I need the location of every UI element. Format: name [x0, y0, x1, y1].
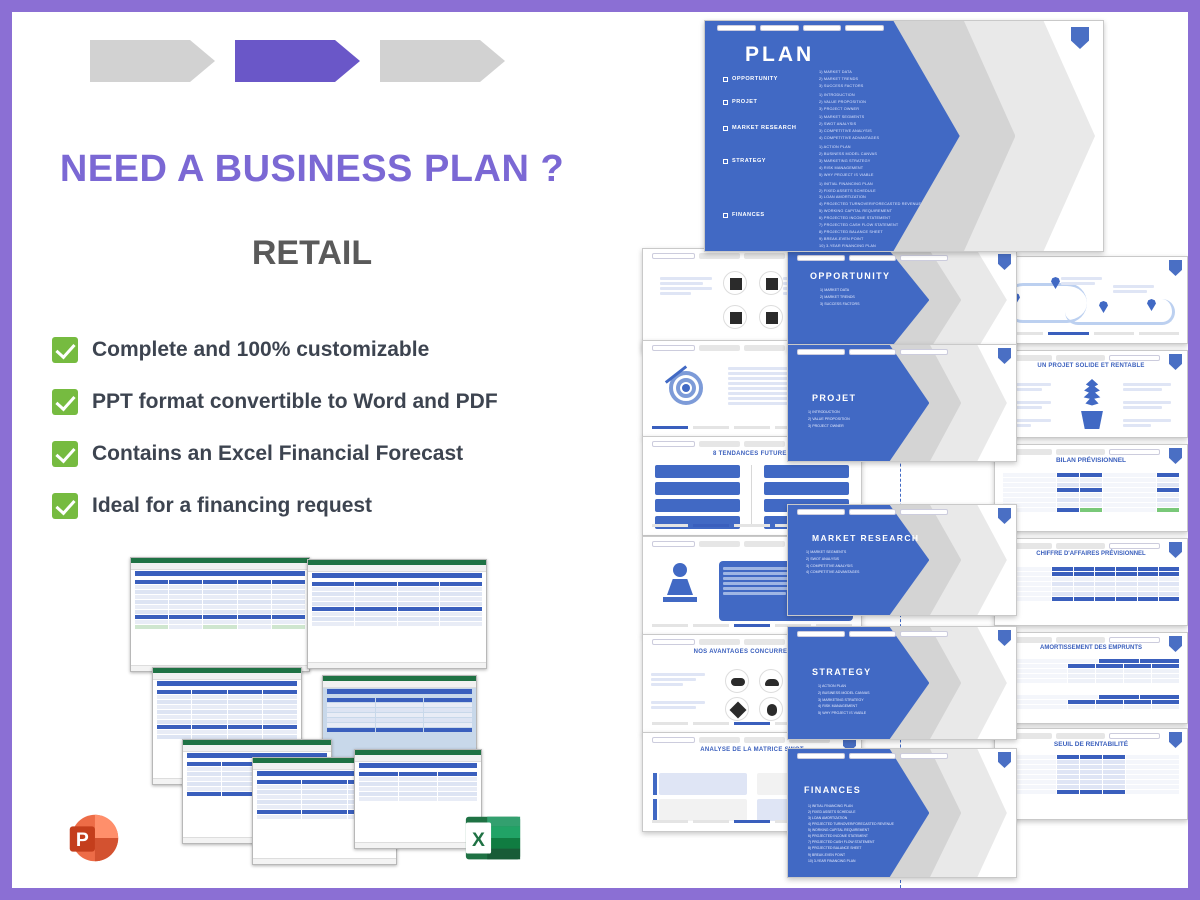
slide-item-list: 1) ACTION PLAN 2) BUSINESS MODEL CANVAS … — [818, 683, 870, 717]
plan-section-label: FINANCES — [723, 212, 819, 218]
checkbox-icon — [723, 213, 728, 218]
table-row — [1003, 572, 1180, 576]
table-row — [1003, 478, 1180, 482]
table-row — [133, 585, 307, 589]
table-row — [133, 615, 307, 619]
table-row — [1003, 780, 1180, 784]
list-item: 3) COMPETITIVE ANALYSIS — [806, 563, 859, 570]
list-item: 2) BUSINESS MODEL CANVAS — [819, 151, 877, 158]
slide-section-opportunity[interactable]: OPPORTUNITY 1) MARKET DATA 2) MARKET TRE… — [787, 250, 1017, 350]
table-row — [325, 718, 474, 722]
left-column: NEED A BUSINESS PLAN ? RETAIL Complete a… — [12, 12, 632, 888]
table-row — [1003, 473, 1180, 477]
cloud-icon — [759, 669, 783, 693]
plan-section-items: 1) INITIAL FINANCING PLAN 2) FIXED ASSET… — [819, 181, 921, 250]
table-row — [1003, 695, 1180, 699]
table-row — [325, 698, 474, 702]
list-item: 8) PROJECTED BALANCE SHEET — [819, 229, 921, 236]
data-table — [1003, 755, 1180, 795]
plan-section-market-research[interactable]: MARKET RESEARCH 1) MARKET SEGMENTS 2) SW… — [723, 114, 983, 142]
slide-thumb-projet-solide[interactable]: UN PROJET SOLIDE ET RENTABLE — [994, 350, 1188, 438]
page-subtitle: RETAIL — [12, 234, 612, 273]
slide-subtitle — [1010, 560, 1171, 565]
table-row — [310, 582, 484, 586]
sheet-title-bar — [312, 573, 482, 578]
table-row — [310, 607, 484, 611]
slide-topnav — [1003, 637, 1160, 643]
plan-sections: OPPORTUNITY 1) MARKET DATA 2) MARKET TRE… — [723, 69, 983, 252]
step-body — [90, 40, 190, 82]
checkbox-icon — [723, 159, 728, 164]
list-item: 2) VALUE PROPOSITION — [819, 99, 866, 106]
plan-section-finances[interactable]: FINANCES 1) INITIAL FINANCING PLAN 2) FI… — [723, 181, 983, 250]
list-item: 3) MARKETING STRATEGY — [819, 158, 877, 165]
check-icon — [52, 493, 78, 519]
page-title: NEED A BUSINESS PLAN ? — [12, 148, 612, 191]
list-item: 3) SUCCESS FACTORS — [820, 301, 859, 308]
table-row — [325, 723, 474, 727]
list-item: 2) SWOT ANALYSIS — [806, 556, 859, 563]
tag-icon — [725, 697, 749, 721]
plan-section-items: 1) MARKET DATA 2) MARKET TRENDS 3) SUCCE… — [819, 69, 863, 90]
list-item: 1) INITIAL FINANCING PLAN — [819, 181, 921, 188]
powerpoint-icon: P — [62, 807, 124, 869]
binoculars-icon — [725, 669, 749, 693]
plant-pot-icon — [1079, 411, 1105, 429]
slide-thumb-amortissement[interactable]: AMORTISSEMENT DES EMPRUNTS — [994, 632, 1188, 724]
table-row — [155, 705, 299, 709]
table-row — [133, 620, 307, 624]
table-row — [310, 622, 484, 626]
sheet-ribbon — [153, 673, 301, 680]
plan-section-projet[interactable]: PROJET 1) INTRODUCTION 2) VALUE PROPOSIT… — [723, 92, 983, 113]
list-item: 2) SWOT ANALYSIS — [819, 121, 879, 128]
table-row — [133, 580, 307, 584]
slide-subtitle — [1010, 466, 1171, 471]
table-row — [357, 787, 479, 791]
sheet-ribbon — [183, 745, 331, 752]
table-row — [155, 700, 299, 704]
excel-icon: X — [462, 807, 524, 869]
table-row — [1003, 760, 1180, 764]
list-item: 5) WHY PROJECT IS VIABLE — [818, 710, 870, 717]
table-row — [1003, 567, 1180, 571]
progress-chevron-bar — [90, 40, 510, 82]
slide-topnav — [797, 349, 948, 355]
presentation-icon — [759, 271, 783, 295]
slide-topnav — [1003, 449, 1160, 455]
list-item: 1) INTRODUCTION — [819, 92, 866, 99]
slide-topnav — [797, 509, 948, 515]
slide-title: CHIFFRE D'AFFAIRES PRÉVISIONNEL — [995, 551, 1187, 557]
slide-thumb-chiffre-affaires[interactable]: CHIFFRE D'AFFAIRES PRÉVISIONNEL — [994, 538, 1188, 626]
svg-text:P: P — [76, 829, 89, 851]
sheet-title-bar — [135, 571, 305, 576]
list-item: 7) PROJECTED CASH FLOW STATEMENT — [819, 222, 921, 229]
sheet-ribbon — [308, 565, 486, 572]
table-row — [133, 590, 307, 594]
list-item: 1) MARKET DATA — [820, 287, 859, 294]
table-row — [1003, 503, 1180, 507]
slide-title: OPPORTUNITY — [810, 271, 890, 281]
shield-icon — [998, 348, 1011, 364]
step-body — [235, 40, 335, 82]
swot-strengths — [659, 773, 747, 795]
slide-title: AMORTISSEMENT DES EMPRUNTS — [995, 645, 1187, 651]
table-row — [1003, 705, 1180, 709]
slide-thumb-roadmap[interactable] — [994, 256, 1188, 344]
swot-opportunities — [659, 799, 747, 821]
table-row — [1003, 664, 1180, 668]
slide-section-projet[interactable]: PROJET 1) INTRODUCTION 2) VALUE PROPOSIT… — [787, 344, 1017, 462]
slide-topnav — [797, 631, 948, 637]
progress-step-2[interactable] — [235, 40, 360, 82]
slide-topnav — [717, 25, 884, 31]
table-row — [155, 710, 299, 714]
table-row — [1003, 597, 1180, 601]
list-item: 3) LOAN AMORTIZATION — [819, 194, 921, 201]
slide-section-finances[interactable]: FINANCES 1) INITIAL FINANCING PLAN 2) FI… — [787, 748, 1017, 878]
check-icon — [52, 389, 78, 415]
spreadsheet-thumb[interactable] — [130, 557, 310, 672]
list-item: PPT format convertible to Word and PDF — [52, 376, 612, 428]
step-tip — [480, 40, 505, 82]
people-icon — [759, 305, 783, 329]
list-item: 10) 3-YEAR FINANCING PLAN — [819, 243, 921, 250]
table-row — [1003, 508, 1180, 512]
sheet-body — [153, 688, 301, 742]
table-row — [310, 592, 484, 596]
table-row — [310, 617, 484, 621]
spreadsheet-thumb[interactable] — [307, 559, 487, 669]
table-row — [1003, 679, 1180, 683]
slide-subtitle — [1010, 372, 1171, 377]
table-row — [325, 713, 474, 717]
sheet-ribbon — [323, 681, 476, 688]
slide-title: SEUIL DE RENTABILITÉ — [995, 741, 1187, 748]
table-row — [357, 772, 479, 776]
plan-section-strategy[interactable]: STRATEGY 1) ACTION PLAN 2) BUSINESS MODE… — [723, 144, 983, 179]
list-item: 4) RISK MANAGEMENT — [819, 165, 877, 172]
slide-plan-master[interactable]: PLAN OPPORTUNITY 1) MARKET DATA 2) MARKE… — [704, 20, 1104, 252]
table-row — [325, 708, 474, 712]
list-item: 3) PROJECT OWNER — [819, 106, 866, 113]
chart-icon — [723, 271, 747, 295]
list-item: 6) PROJECTED INCOME STATEMENT — [819, 215, 921, 222]
list-item: 4) RISK MANAGEMENT — [818, 703, 870, 710]
plan-section-opportunity[interactable]: OPPORTUNITY 1) MARKET DATA 2) MARKET TRE… — [723, 69, 983, 90]
excel-logo: X — [462, 807, 524, 869]
list-item: 2) FIXED ASSETS SCHEDULE — [819, 188, 921, 195]
list-item: 5) WORKING CAPITAL REQUIREMENT — [819, 208, 921, 215]
plan-section-items: 1) INTRODUCTION 2) VALUE PROPOSITION 3) … — [819, 92, 866, 113]
sheet-tabs[interactable] — [253, 858, 396, 864]
list-item: 1) ACTION PLAN — [819, 144, 877, 151]
plan-section-label: STRATEGY — [723, 144, 819, 179]
list-item: 2) MARKET TRENDS — [820, 294, 859, 301]
checkbox-icon — [723, 77, 728, 82]
data-table — [1003, 567, 1180, 602]
slide-item-list: 1) MARKET DATA 2) MARKET TRENDS 3) SUCCE… — [820, 287, 859, 307]
table-row — [1003, 577, 1180, 581]
shield-icon — [998, 508, 1011, 524]
list-item: 1) MARKET SEGMENTS — [806, 549, 859, 556]
slide-topnav — [1003, 543, 1160, 549]
table-row — [1003, 659, 1180, 663]
table-row — [1003, 582, 1180, 586]
list-item: 3) SUCCESS FACTORS — [819, 83, 863, 90]
table-row — [1003, 674, 1180, 678]
table-row — [1003, 785, 1180, 789]
table-row — [1003, 700, 1180, 704]
slide-title: FINANCES — [804, 785, 861, 795]
table-row — [155, 715, 299, 719]
table-row — [310, 597, 484, 601]
slide-botnav[interactable] — [1003, 331, 1180, 338]
list-item-label: Complete and 100% customizable — [92, 338, 429, 362]
list-item: 4) PROJECTED TURNOVER/FORECASTED REVENUE — [819, 201, 921, 208]
list-item-label: PPT format convertible to Word and PDF — [92, 390, 498, 414]
list-item: 2) MARKET TRENDS — [819, 76, 863, 83]
slide-topnav — [797, 753, 948, 759]
shield-icon — [998, 752, 1011, 768]
list-item: 5) WHY PROJECT IS VIABLE — [819, 172, 877, 179]
slide-item-list: 1) INITIAL FINANCING PLAN 2) FIXED ASSET… — [808, 803, 894, 864]
plan-section-label: PROJET — [723, 92, 819, 113]
sheet-body — [323, 696, 476, 735]
list-item: 4) COMPETITIVE ADVANTAGES — [806, 569, 859, 576]
slide-title: STRATEGY — [812, 667, 872, 677]
table-row — [310, 612, 484, 616]
table-row — [133, 625, 307, 629]
sheet-ribbon — [355, 755, 481, 762]
list-item: 9) BREAK-EVEN POINT — [819, 236, 921, 243]
slide-deck-preview: 8 TENDANCES FUTURES — [632, 12, 1188, 888]
sheet-title-bar — [327, 689, 472, 694]
plan-section-label: MARKET RESEARCH — [723, 114, 819, 142]
roadmap-path — [1065, 299, 1175, 325]
slide-topnav — [1003, 355, 1160, 361]
checkbox-icon — [723, 126, 728, 131]
table-row — [133, 600, 307, 604]
table-row — [1003, 770, 1180, 774]
check-icon — [52, 337, 78, 363]
slide-section-strategy[interactable]: STRATEGY 1) ACTION PLAN 2) BUSINESS MODE… — [787, 626, 1017, 740]
table-row — [1003, 498, 1180, 502]
progress-step-1[interactable] — [90, 40, 215, 82]
slide-topnav — [1003, 733, 1160, 739]
table-row — [310, 602, 484, 606]
check-icon — [52, 441, 78, 467]
plant-leaf-icon — [1081, 379, 1103, 413]
slide-title: MARKET RESEARCH — [812, 533, 919, 543]
table-row — [310, 587, 484, 591]
shield-icon — [1071, 27, 1089, 49]
table-row — [155, 690, 299, 694]
table-row — [357, 797, 479, 801]
table-row — [1003, 587, 1180, 591]
sheet-body — [355, 770, 481, 804]
list-item-label: Contains an Excel Financial Forecast — [92, 442, 463, 466]
list-item: 2) VALUE PROPOSITION — [808, 416, 850, 423]
table-row — [325, 703, 474, 707]
list-item: Complete and 100% customizable — [52, 324, 612, 376]
slide-subtitle — [1010, 263, 1171, 268]
sheet-body — [131, 578, 309, 632]
shield-icon — [1169, 260, 1182, 276]
page-title: PLAN — [745, 43, 814, 67]
sheet-body — [308, 580, 486, 629]
table-row — [1003, 493, 1180, 497]
feature-list: Complete and 100% customizable PPT forma… — [52, 324, 612, 532]
slide-thumb-seuil[interactable]: SEUIL DE RENTABILITÉ — [994, 728, 1188, 820]
sheet-tabs[interactable] — [308, 662, 486, 668]
list-item: 3) PROJECT OWNER — [808, 423, 850, 430]
list-item: 10) 3-YEAR FINANCING PLAN — [808, 858, 894, 864]
slide-title: UN PROJET SOLIDE ET RENTABLE — [995, 363, 1187, 369]
table-row — [133, 605, 307, 609]
shield-icon — [998, 630, 1011, 646]
plan-section-items: 1) ACTION PLAN 2) BUSINESS MODEL CANVAS … — [819, 144, 877, 179]
step-tip — [190, 40, 215, 82]
list-item: 2) BUSINESS MODEL CANVAS — [818, 690, 870, 697]
table-row — [1003, 775, 1180, 779]
step-body — [380, 40, 480, 82]
list-item-label: Ideal for a financing request — [92, 494, 372, 518]
table-row — [155, 695, 299, 699]
slide-title: PROJET — [812, 393, 856, 403]
promo-canvas: NEED A BUSINESS PLAN ? RETAIL Complete a… — [0, 0, 1200, 900]
list-item: 1) MARKET SEGMENTS — [819, 114, 879, 121]
svg-text:X: X — [472, 829, 485, 851]
list-item: Ideal for a financing request — [52, 480, 612, 532]
shield-icon — [998, 254, 1011, 270]
table-row — [155, 730, 299, 734]
promo-inner: NEED A BUSINESS PLAN ? RETAIL Complete a… — [12, 12, 1188, 888]
sheet-title-bar — [157, 681, 297, 686]
list-item: 1) INTRODUCTION — [808, 409, 850, 416]
list-item: 3) MARKETING STRATEGY — [818, 697, 870, 704]
data-table — [1003, 659, 1180, 684]
table-row — [155, 720, 299, 724]
list-item: 1) ACTION PLAN — [818, 683, 870, 690]
table-row — [1003, 669, 1180, 673]
checkbox-icon — [723, 100, 728, 105]
table-row — [133, 595, 307, 599]
table-row — [357, 777, 479, 781]
progress-step-3[interactable] — [380, 40, 505, 82]
table-row — [357, 782, 479, 786]
step-tip — [335, 40, 360, 82]
powerpoint-logo: P — [62, 807, 124, 869]
table-row — [325, 728, 474, 732]
puzzle-icon — [723, 305, 747, 329]
target-center-icon — [682, 384, 690, 392]
podium-icon — [667, 579, 693, 595]
sheet-ribbon — [131, 563, 309, 570]
slide-item-list: 1) MARKET SEGMENTS 2) SWOT ANALYSIS 3) C… — [806, 549, 859, 576]
list-item: Contains an Excel Financial Forecast — [52, 428, 612, 480]
slide-topnav — [797, 255, 948, 261]
table-row — [155, 725, 299, 729]
slide-title: BILAN PRÉVISIONNEL — [995, 457, 1187, 464]
table-row — [1003, 592, 1180, 596]
table-row — [357, 792, 479, 796]
list-item: 4) COMPETITIVE ADVANTAGES — [819, 135, 879, 142]
slide-item-list: 1) INTRODUCTION 2) VALUE PROPOSITION 3) … — [808, 409, 850, 429]
data-table — [1003, 695, 1180, 710]
slide-thumb-bilan[interactable]: BILAN PRÉVISIONNEL — [994, 444, 1188, 532]
list-item: 3) COMPETITIVE ANALYSIS — [819, 128, 879, 135]
table-row — [1003, 483, 1180, 487]
plan-section-label: OPPORTUNITY — [723, 69, 819, 90]
sheet-title-bar — [359, 763, 477, 768]
data-table — [1003, 473, 1180, 513]
badge-icon — [759, 697, 783, 721]
slide-section-market-research[interactable]: MARKET RESEARCH 1) MARKET SEGMENTS 2) SW… — [787, 504, 1017, 616]
plan-section-items: 1) MARKET SEGMENTS 2) SWOT ANALYSIS 3) C… — [819, 114, 879, 142]
list-item: 1) MARKET DATA — [819, 69, 863, 76]
table-row — [1003, 488, 1180, 492]
table-row — [1003, 790, 1180, 794]
person-icon — [673, 563, 687, 577]
table-row — [133, 610, 307, 614]
table-row — [1003, 755, 1180, 759]
table-row — [1003, 765, 1180, 769]
podium-base-icon — [663, 597, 697, 602]
